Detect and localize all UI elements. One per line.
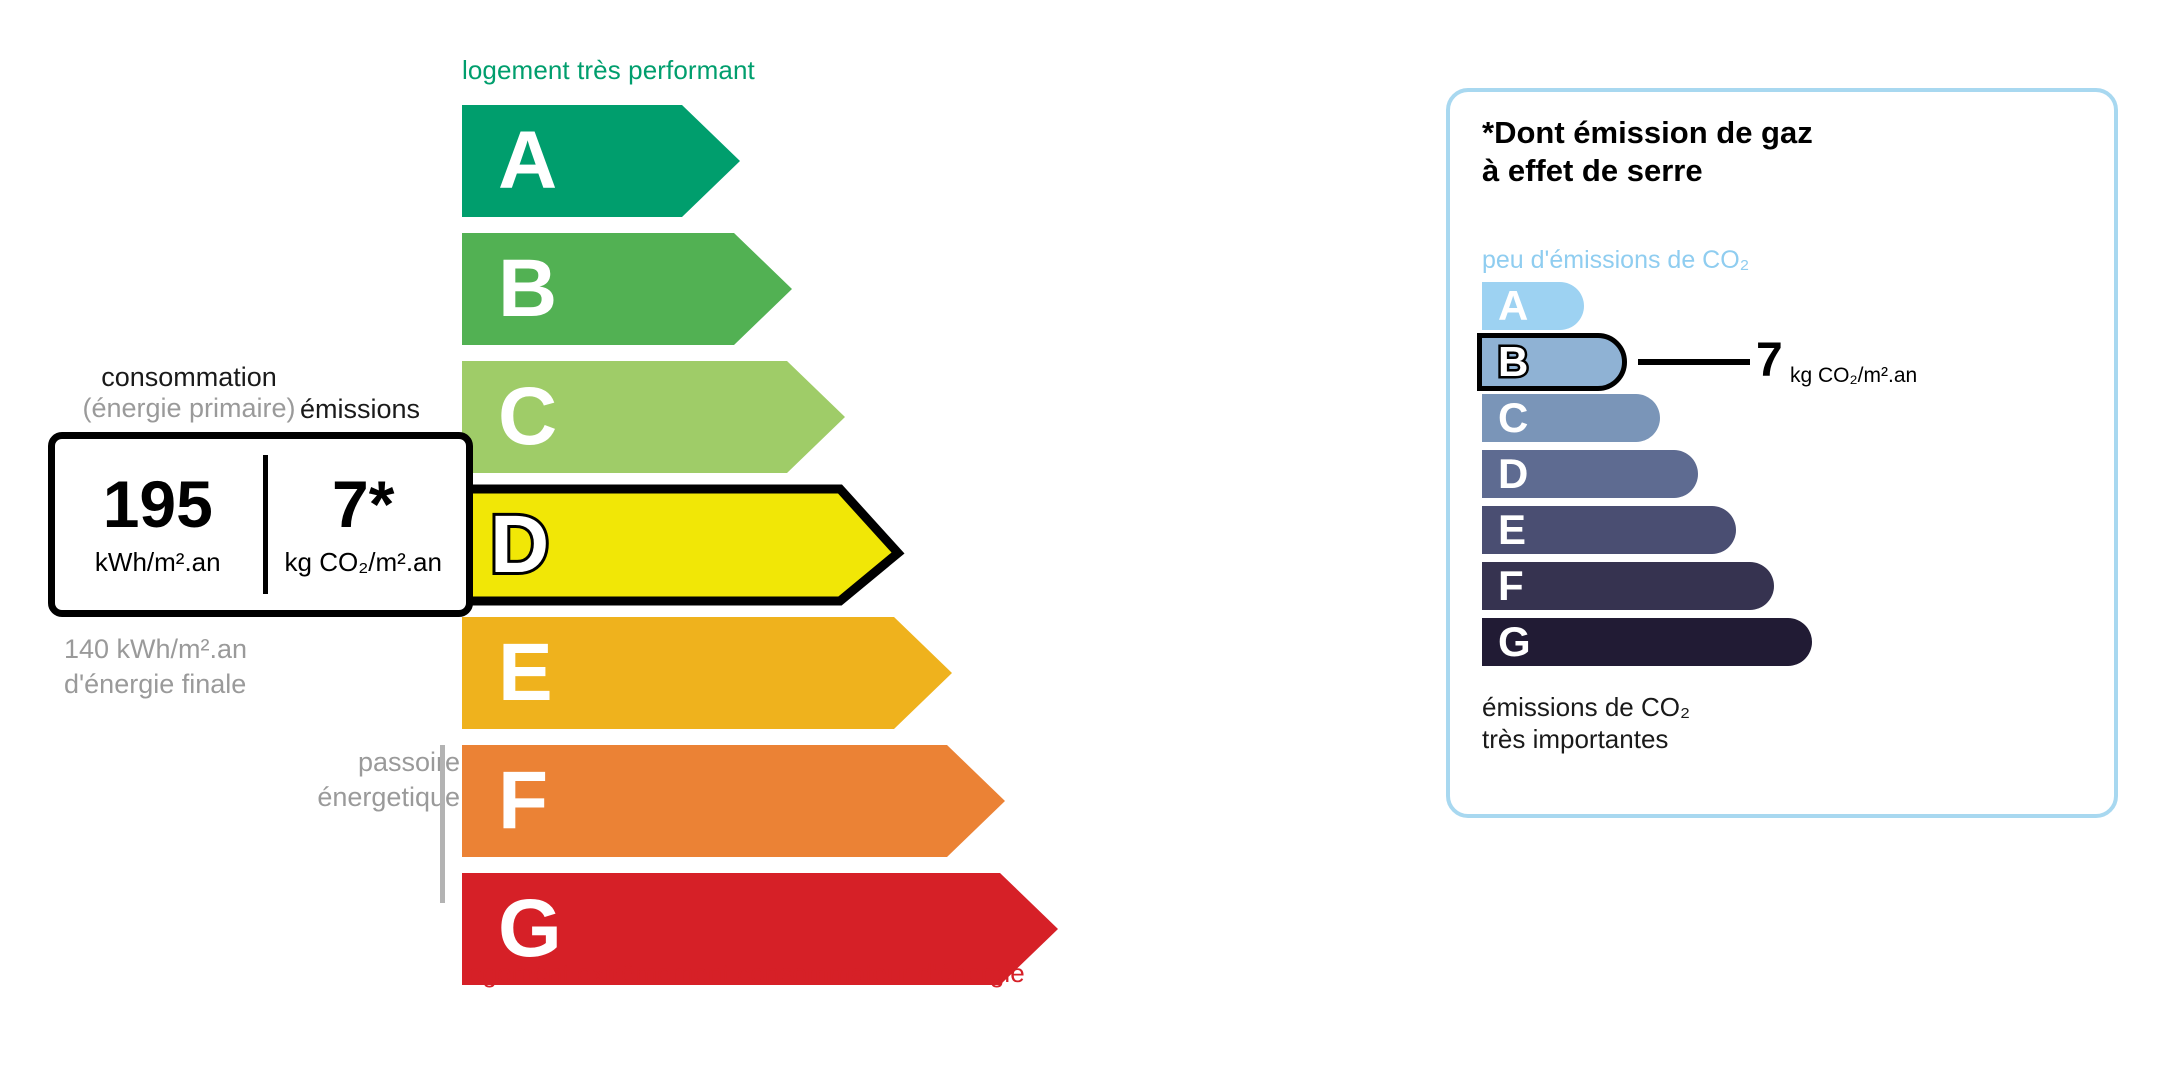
passoire-note: passoire énergetique bbox=[280, 745, 460, 814]
final-energy-value: 140 kWh/m².an bbox=[64, 632, 247, 667]
energy-bar-list: ABCDEFG bbox=[462, 105, 1342, 1001]
co2-bottom-line-1: émissions de CO₂ bbox=[1482, 692, 1690, 724]
energy-scale-top-caption: logement très performant bbox=[462, 55, 755, 86]
emission-cell: 7* kg CO₂/m².an bbox=[261, 439, 467, 610]
final-energy-note: 140 kWh/m².an d'énergie finale bbox=[64, 632, 247, 701]
passoire-line-1: passoire bbox=[280, 745, 460, 780]
energy-performance-scale: logement très performant ABCDEFG logemen… bbox=[0, 0, 1340, 1079]
energy-bar-b: B bbox=[462, 233, 792, 345]
co2-bar-letter-a: A bbox=[1498, 285, 1528, 327]
passoire-rule bbox=[440, 745, 445, 903]
primary-energy-value: 195 bbox=[103, 471, 213, 537]
energy-bar-c: C bbox=[462, 361, 845, 473]
co2-bar-letter-b: B bbox=[1498, 341, 1528, 383]
co2-bar-d: D bbox=[1482, 450, 1698, 498]
value-box: 195 kWh/m².an 7* kg CO₂/m².an bbox=[48, 432, 473, 617]
co2-callout-line bbox=[1638, 359, 1750, 365]
emissions-label: émissions bbox=[300, 394, 480, 425]
co2-bar-letter-g: G bbox=[1498, 621, 1531, 663]
co2-bar-a: A bbox=[1482, 282, 1584, 330]
emission-unit: kg CO₂/m².an bbox=[285, 547, 442, 578]
co2-bar-c: C bbox=[1482, 394, 1660, 442]
energy-bar-a: A bbox=[462, 105, 740, 217]
energy-bar-letter-d: D bbox=[490, 504, 549, 586]
consumption-label: consommation bbox=[101, 362, 277, 392]
energy-bar-letter-a: A bbox=[498, 120, 557, 202]
co2-bar-list: AB7kg CO₂/m².anCDEFG bbox=[1482, 282, 2082, 674]
co2-title-line-2: à effet de serre bbox=[1482, 152, 1813, 190]
passoire-line-2: énergetique bbox=[280, 780, 460, 815]
primary-energy-cell: 195 kWh/m².an bbox=[55, 439, 261, 610]
energy-scale-bottom-caption: logement extrêmement consommateur d'éner… bbox=[462, 958, 1025, 989]
co2-bar-letter-e: E bbox=[1498, 509, 1526, 551]
energy-bar-letter-c: C bbox=[498, 376, 557, 458]
co2-callout-value: 7 bbox=[1756, 337, 1783, 385]
co2-bar-letter-f: F bbox=[1498, 565, 1524, 607]
final-energy-sublabel: d'énergie finale bbox=[64, 667, 247, 702]
co2-top-caption: peu d'émissions de CO₂ bbox=[1482, 246, 1749, 275]
primary-energy-unit: kWh/m².an bbox=[95, 547, 221, 578]
co2-bottom-line-2: très importantes bbox=[1482, 724, 1690, 756]
co2-panel-title: *Dont émission de gaz à effet de serre bbox=[1482, 114, 1813, 190]
co2-bottom-caption: émissions de CO₂ très importantes bbox=[1482, 692, 1690, 755]
consumption-label-group: consommation (énergie primaire) bbox=[64, 362, 314, 424]
energy-bar-letter-e: E bbox=[498, 632, 553, 714]
energy-bar-f: F bbox=[462, 745, 1005, 857]
co2-callout-unit: kg CO₂/m².an bbox=[1790, 365, 1917, 386]
co2-title-line-1: *Dont émission de gaz bbox=[1482, 114, 1813, 152]
co2-bar-letter-d: D bbox=[1498, 453, 1528, 495]
co2-bar-letter-c: C bbox=[1498, 397, 1528, 439]
co2-bar-e: E bbox=[1482, 506, 1736, 554]
co2-bar-f: F bbox=[1482, 562, 1774, 610]
emission-value: 7* bbox=[332, 471, 394, 537]
co2-panel: *Dont émission de gaz à effet de serre p… bbox=[1446, 88, 2118, 818]
energy-bar-letter-f: F bbox=[498, 760, 548, 842]
co2-bar-g: G bbox=[1482, 618, 1812, 666]
consumption-sublabel: (énergie primaire) bbox=[64, 393, 314, 424]
co2-bar-b: B bbox=[1477, 333, 1627, 391]
dpe-infographic: logement très performant ABCDEFG logemen… bbox=[0, 0, 2170, 1079]
energy-bar-e: E bbox=[462, 617, 952, 729]
energy-bar-d: D bbox=[454, 481, 906, 609]
energy-bar-letter-b: B bbox=[498, 248, 557, 330]
